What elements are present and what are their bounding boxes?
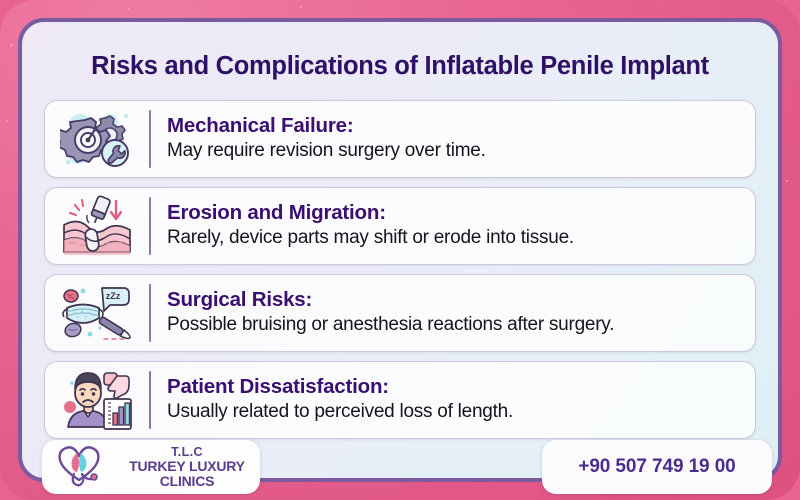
sad-patient-thumbsdown-icon — [45, 362, 149, 438]
brand-abbreviation: T.L.C — [114, 446, 260, 459]
phone-number: +90 507 749 19 00 — [578, 456, 735, 478]
svg-text:zZz: zZz — [106, 291, 121, 301]
card-description: Rarely, device parts may shift or erode … — [167, 227, 745, 250]
outer-frame: Risks and Complications of Inflatable Pe… — [0, 0, 800, 500]
card-text-block: Patient Dissatisfaction: Usually related… — [151, 376, 755, 424]
brand-logo-pill[interactable]: T.L.C TURKEY LUXURY CLINICS — [42, 440, 260, 494]
decorative-speck — [10, 44, 13, 47]
content-panel: Risks and Complications of Inflatable Pe… — [18, 18, 782, 482]
tissue-erosion-icon — [45, 188, 149, 264]
decorative-speck — [300, 6, 302, 8]
card-text-block: Erosion and Migration: Rarely, device pa… — [151, 202, 755, 250]
card-title: Patient Dissatisfaction: — [167, 376, 745, 399]
decorative-speck — [786, 180, 788, 182]
card-description: Usually related to perceived loss of len… — [167, 401, 745, 424]
risk-card-mechanical-failure[interactable]: Mechanical Failure: May require revision… — [44, 100, 756, 178]
card-description: May require revision surgery over time. — [167, 140, 745, 163]
surgical-mask-scalpel-icon: zZz — [45, 275, 149, 351]
gears-wrench-icon — [45, 101, 149, 177]
phone-pill[interactable]: +90 507 749 19 00 — [542, 440, 772, 494]
card-title: Erosion and Migration: — [167, 202, 745, 225]
card-title: Surgical Risks: — [167, 289, 745, 312]
decorative-speck — [128, 8, 130, 10]
decorative-speck — [6, 120, 8, 122]
card-text-block: Surgical Risks: Possible bruising or ane… — [151, 289, 755, 337]
card-description: Possible bruising or anesthesia reaction… — [167, 314, 745, 337]
card-text-block: Mechanical Failure: May require revision… — [151, 115, 755, 163]
heart-stethoscope-butterfly-logo — [50, 441, 112, 494]
risk-card-list: Mechanical Failure: May require revision… — [44, 100, 756, 448]
risk-card-patient-dissatisfaction[interactable]: Patient Dissatisfaction: Usually related… — [44, 361, 756, 439]
risk-card-erosion-migration[interactable]: Erosion and Migration: Rarely, device pa… — [44, 187, 756, 265]
brand-full-name: TURKEY LUXURY CLINICS — [114, 459, 260, 488]
brand-name: T.L.C TURKEY LUXURY CLINICS — [114, 446, 260, 489]
risk-card-surgical-risks[interactable]: zZz — [44, 274, 756, 352]
page-title: Risks and Complications of Inflatable Pe… — [22, 52, 778, 81]
card-title: Mechanical Failure: — [167, 115, 745, 138]
